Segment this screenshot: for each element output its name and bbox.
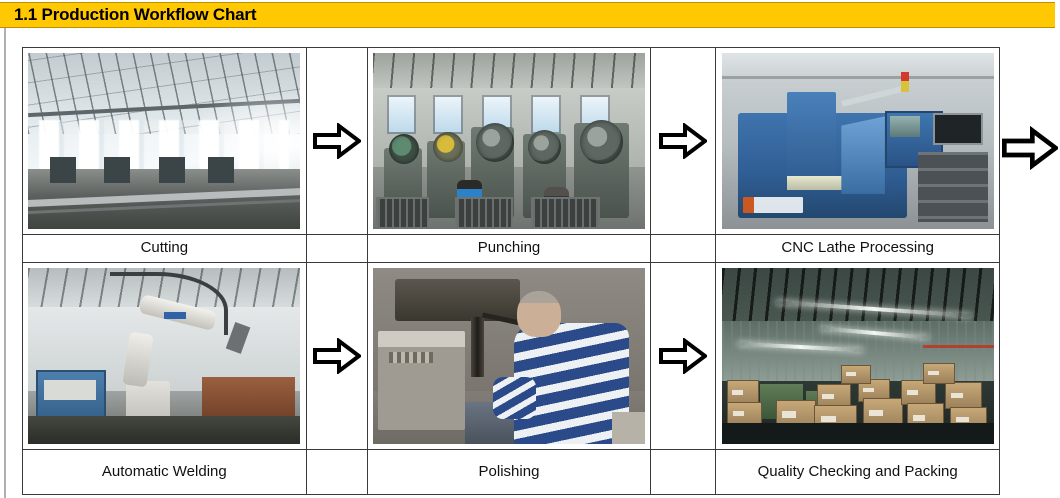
workflow-photo-cell-cutting	[23, 48, 307, 235]
workflow-label-automatic-welding: Automatic Welding	[23, 450, 307, 495]
section-header-bar: 1.1 Production Workflow Chart	[0, 2, 1055, 28]
workflow-photo-cell-polishing	[367, 263, 651, 450]
workflow-photo-cell-punching	[367, 48, 651, 235]
table-row: Cutting Punching CNC Lathe Processing	[23, 235, 1000, 263]
workflow-arrow-1	[306, 48, 367, 235]
photo-automatic-welding	[28, 268, 300, 444]
photo-polishing	[373, 268, 645, 444]
right-block-arrow-icon	[659, 123, 707, 159]
left-margin-rule	[4, 2, 6, 498]
workflow-photo-cell-cnc	[716, 48, 1000, 235]
table-row	[23, 263, 1000, 450]
photo-cutting	[28, 53, 300, 229]
workflow-label-cnc-lathe: CNC Lathe Processing	[716, 235, 1000, 263]
workflow-arrow-2	[651, 48, 716, 235]
right-block-arrow-icon	[313, 123, 361, 159]
workflow-arrow-3	[306, 263, 367, 450]
workflow-arrow-spacer-1	[306, 235, 367, 263]
workflow-arrow-spacer-4	[651, 450, 716, 495]
workflow-photo-cell-packing	[716, 263, 1000, 450]
workflow-arrow-spacer-2	[651, 235, 716, 263]
photo-cnc-lathe	[722, 53, 994, 229]
production-workflow-table: Cutting Punching CNC Lathe Processing	[22, 47, 1000, 495]
workflow-label-quality-checking-packing: Quality Checking and Packing	[716, 450, 1000, 495]
photo-quality-checking-packing	[722, 268, 994, 444]
photo-punching	[373, 53, 645, 229]
workflow-label-punching: Punching	[367, 235, 651, 263]
workflow-photo-cell-welding	[23, 263, 307, 450]
workflow-label-cutting: Cutting	[23, 235, 307, 263]
workflow-arrow-4	[651, 263, 716, 450]
right-block-arrow-icon	[313, 338, 361, 374]
right-block-arrow-icon-trailing	[1002, 126, 1058, 170]
right-block-arrow-icon	[659, 338, 707, 374]
workflow-label-polishing: Polishing	[367, 450, 651, 495]
table-row: Automatic Welding Polishing Quality Chec…	[23, 450, 1000, 495]
page-title: 1.1 Production Workflow Chart	[0, 5, 256, 25]
workflow-arrow-spacer-3	[306, 450, 367, 495]
table-row	[23, 48, 1000, 235]
